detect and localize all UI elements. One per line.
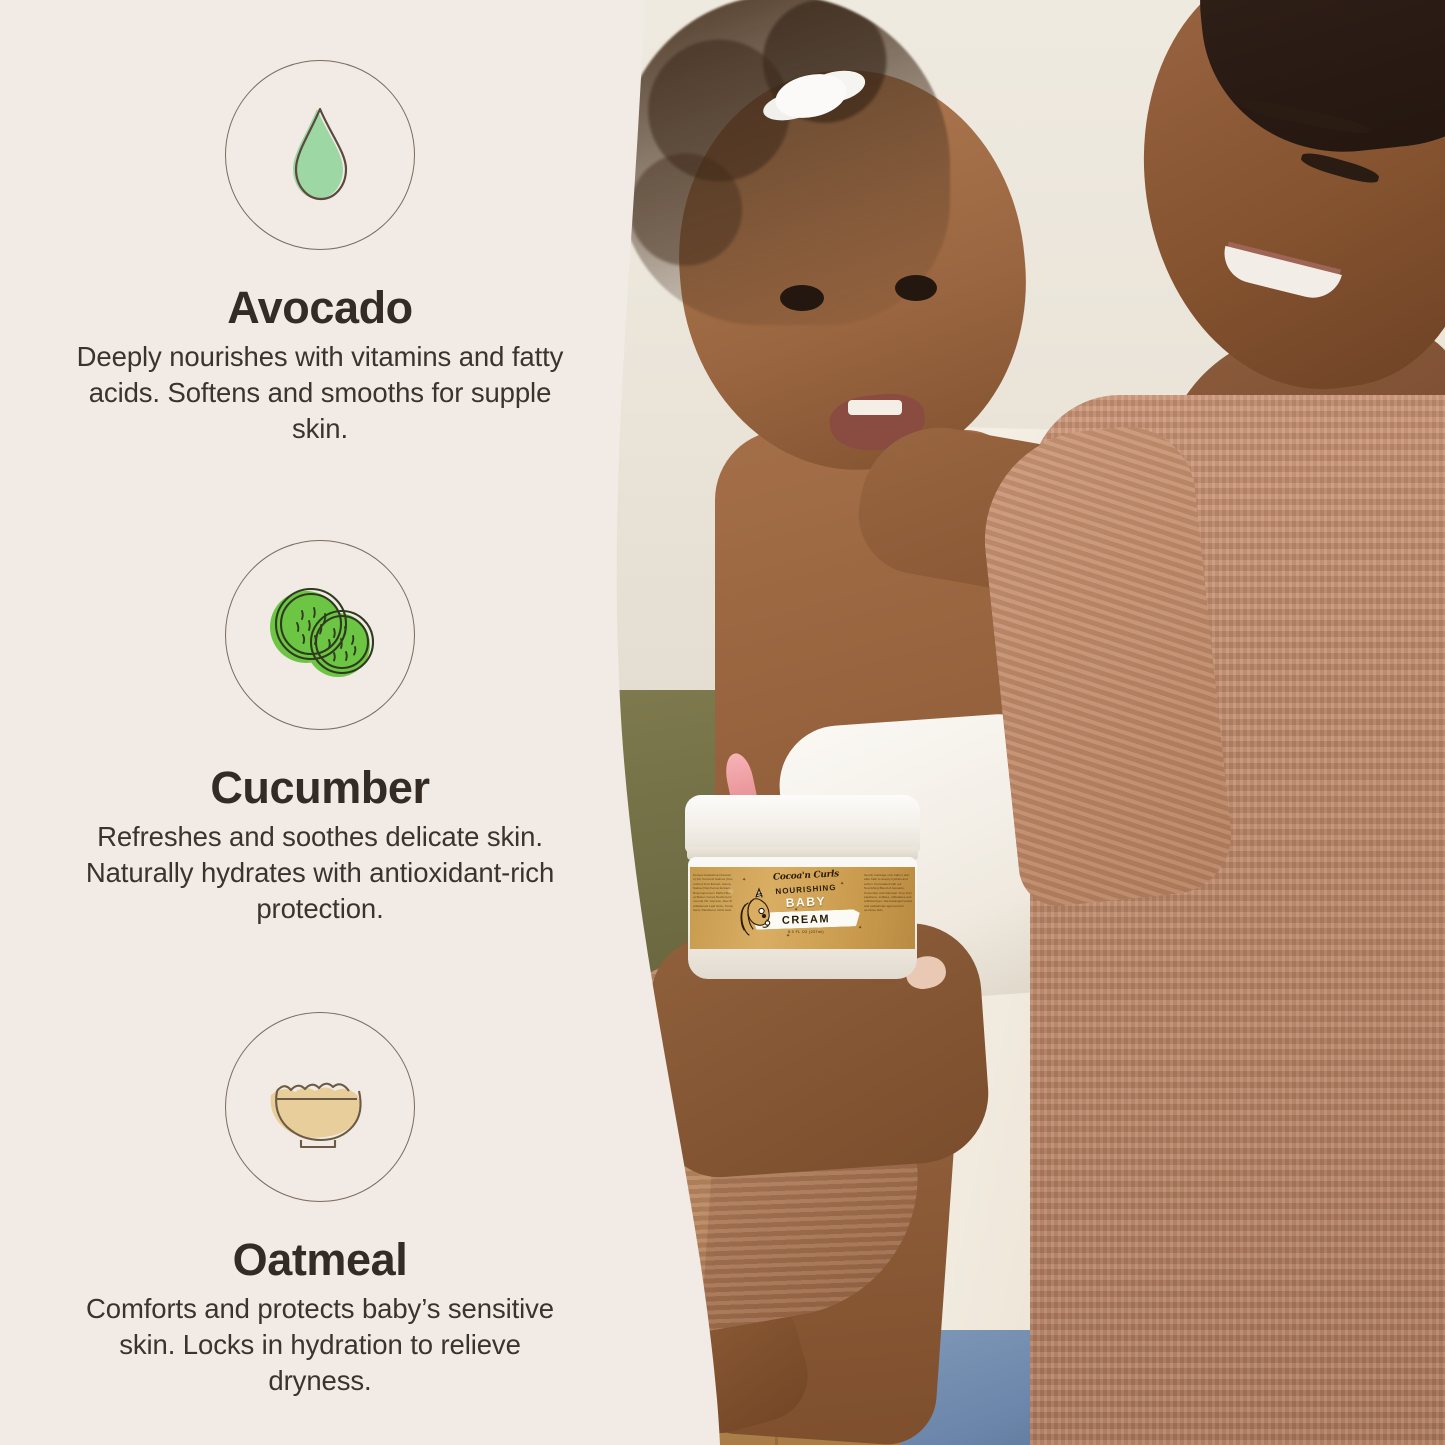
- oatmeal-icon-circle: [225, 1012, 415, 1202]
- feature-cucumber: Cucumber Refreshes and soothes delicate …: [0, 540, 640, 927]
- brand-logo: Cocoa'n Curls: [752, 869, 860, 883]
- feature-description: Comforts and protects baby’s sensitive s…: [0, 1291, 640, 1398]
- unicorn-icon: [734, 887, 780, 943]
- product-jar: Persea Gratissima (Avocado) Oil, Cucumis…: [685, 795, 920, 980]
- baby-eye: [780, 285, 824, 311]
- feature-title: Oatmeal: [0, 1236, 640, 1283]
- cucumber-icon-circle: [225, 540, 415, 730]
- oil-drop-icon: [287, 103, 353, 207]
- product-benefits-graphic: Persea Gratissima (Avocado) Oil, Cucumis…: [0, 0, 1445, 1445]
- label-cream: CREAM: [782, 912, 831, 926]
- jar-lid: [685, 795, 920, 853]
- baby-teeth: [848, 400, 902, 415]
- baby-eye: [895, 275, 937, 301]
- cucumber-slices-icon: [262, 583, 378, 687]
- feature-oatmeal: Oatmeal Comforts and protects baby’s sen…: [0, 1012, 640, 1399]
- feature-description: Deeply nourishes with vitamins and fatty…: [0, 339, 640, 446]
- claims-text: Gently massage onto baby’s skin after ba…: [864, 873, 912, 913]
- feature-title: Cucumber: [0, 764, 640, 811]
- baby-hair: [620, 0, 950, 325]
- feature-title: Avocado: [0, 284, 640, 331]
- lifestyle-photo: Persea Gratissima (Avocado) Oil, Cucumis…: [600, 0, 1445, 1445]
- feature-description: Refreshes and soothes delicate skin. Nat…: [0, 819, 640, 926]
- ingredients-text: Persea Gratissima (Avocado) Oil, Cucumis…: [693, 873, 733, 913]
- jar-label: Persea Gratissima (Avocado) Oil, Cucumis…: [690, 867, 915, 949]
- avocado-icon-circle: [225, 60, 415, 250]
- oatmeal-bowl-icon: [261, 1061, 379, 1153]
- feature-avocado: Avocado Deeply nourishes with vitamins a…: [0, 60, 640, 447]
